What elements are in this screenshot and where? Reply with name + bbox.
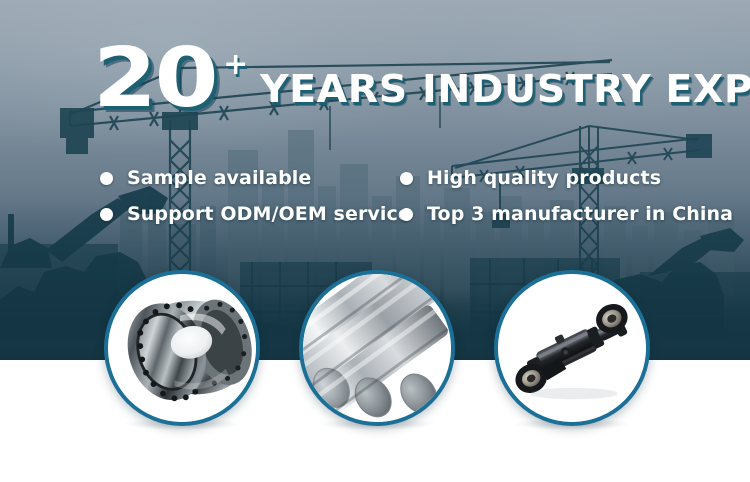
feature-label: Top 3 manufacturer in China (427, 203, 733, 225)
headline: 20 + YEARS INDUSTRY EXPERIENCE (93, 45, 750, 112)
bullet-dot-icon (100, 208, 113, 221)
steel-flange-pipe-image (108, 274, 256, 422)
feature-list: Sample available High quality products S… (100, 160, 700, 232)
feature-label: Sample available (127, 167, 311, 189)
feature-label: Support ODM/OEM service (127, 203, 411, 225)
feature-label: High quality products (427, 167, 661, 189)
bullet-dot-icon (100, 172, 113, 185)
product-circle-hydraulic-cylinder[interactable] (494, 270, 650, 426)
bullet-dot-icon (400, 172, 413, 185)
feature-item: Support ODM/OEM service (100, 203, 400, 225)
headline-text: YEARS INDUSTRY EXPERIENCE (260, 70, 750, 108)
years-number-group: 20 + (93, 45, 248, 112)
hydraulic-cylinder-image (498, 274, 646, 422)
bullet-dot-icon (400, 208, 413, 221)
feature-item: Top 3 manufacturer in China (400, 203, 690, 225)
feature-item: High quality products (400, 167, 690, 189)
plus-sign: + (223, 47, 248, 82)
feature-item: Sample available (100, 167, 400, 189)
promo-banner: 20 + YEARS INDUSTRY EXPERIENCE Sample av… (0, 0, 750, 482)
years-number: 20 (93, 45, 223, 112)
product-circle-steel-flange-pipe[interactable] (104, 270, 260, 426)
steel-round-bars-image (303, 274, 451, 422)
product-circle-steel-round-bars[interactable] (299, 270, 455, 426)
